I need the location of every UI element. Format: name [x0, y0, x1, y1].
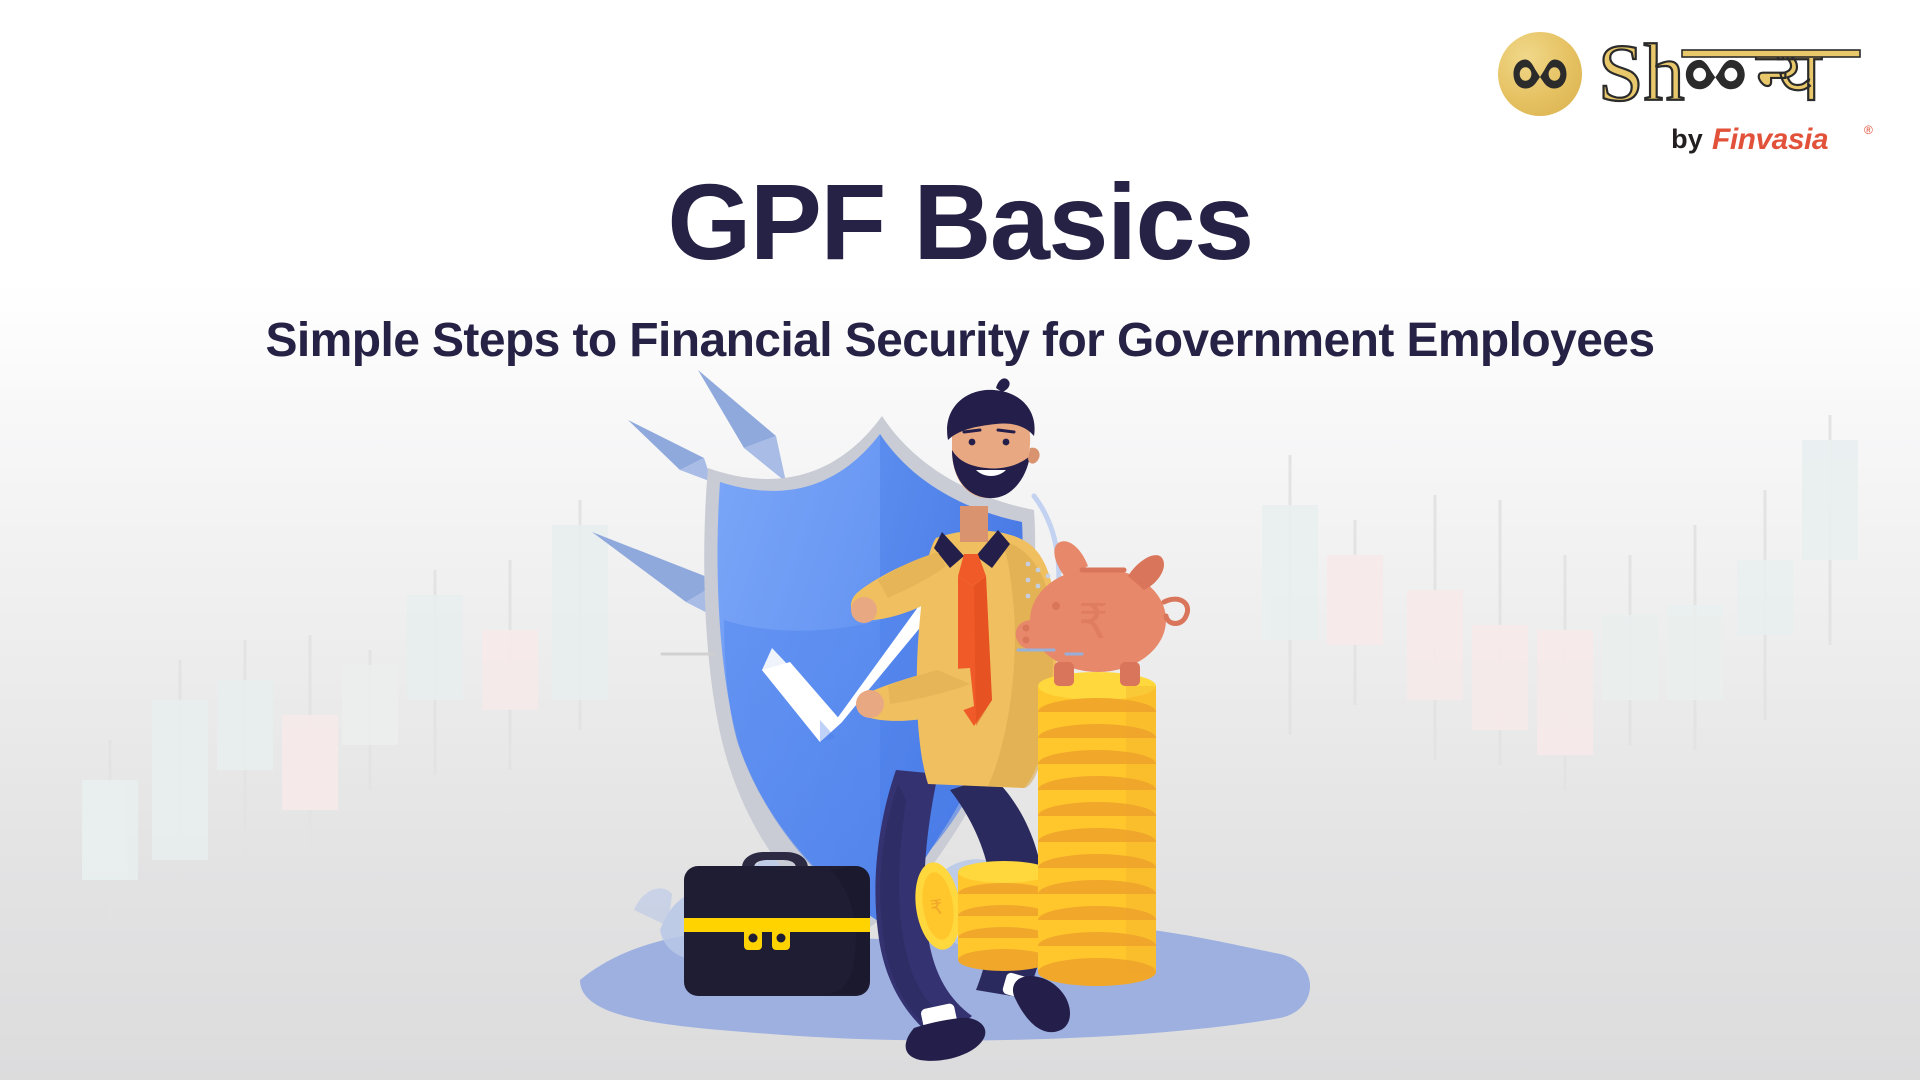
head [947, 378, 1039, 498]
arrow-icon [698, 370, 786, 482]
brand-logo[interactable]: Sh न्य by Finvasia ® [1498, 28, 1898, 156]
brand-wordmark: Sh न्य [1598, 28, 1898, 120]
finvasia-wordmark: Finvasia ® [1712, 122, 1894, 156]
logo-row: Sh न्य [1498, 28, 1898, 120]
hand [851, 597, 877, 623]
infinity-icon [1498, 32, 1582, 116]
page-title: GPF Basics [0, 168, 1920, 276]
arrow-icon [628, 420, 712, 482]
svg-text:न्य: न्य [1756, 35, 1822, 117]
logo-by-label: by [1671, 124, 1703, 155]
svg-text:Sh: Sh [1598, 28, 1685, 118]
poster-canvas: Sh न्य by Finvasia ® [0, 0, 1920, 1080]
page-subtitle: Simple Steps to Financial Security for G… [0, 316, 1920, 366]
svg-text:®: ® [1864, 123, 1873, 137]
coin-stack-tall [1038, 672, 1156, 986]
rupee-symbol: ₹ [1078, 594, 1109, 650]
hero-illustration: ₹ [620, 370, 1340, 1080]
svg-text:Finvasia: Finvasia [1712, 123, 1828, 156]
hand [856, 690, 884, 718]
logo-by-line: by Finvasia ® [1671, 122, 1894, 156]
briefcase [684, 852, 870, 996]
